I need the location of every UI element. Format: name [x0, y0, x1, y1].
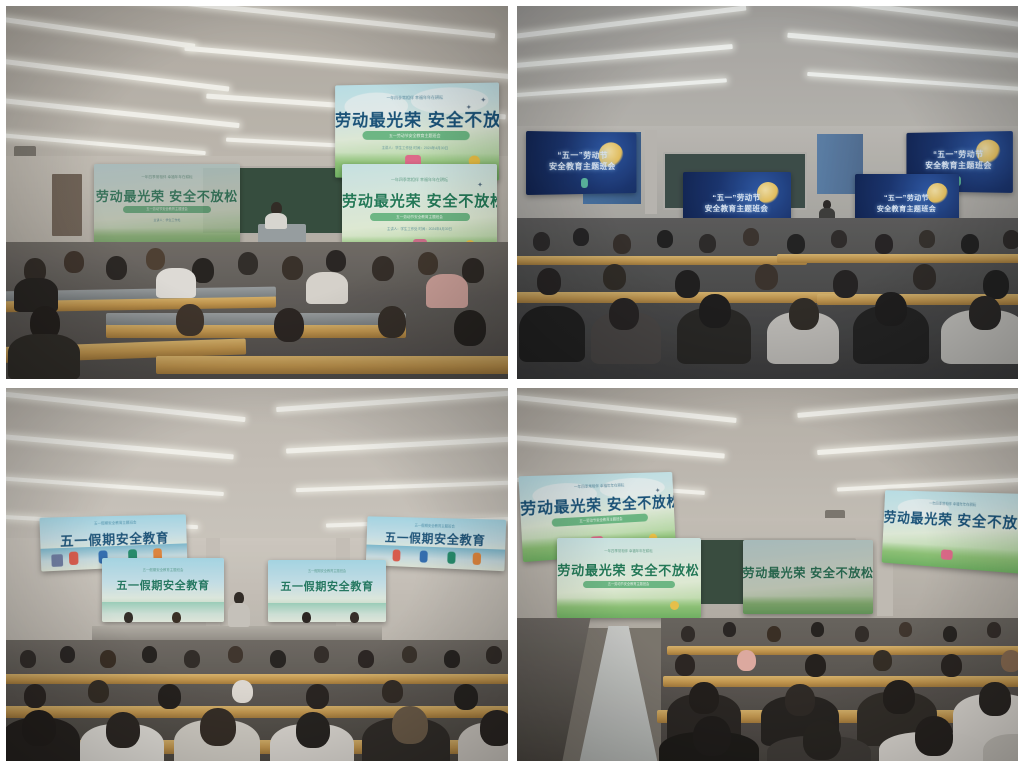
desk-row [663, 676, 1019, 687]
audience-head [573, 228, 589, 246]
audience-head [789, 298, 819, 330]
audience-body [8, 334, 80, 379]
audience-head [983, 270, 1009, 299]
audience-head [282, 256, 303, 280]
audience-head [274, 308, 304, 342]
screen-title-line2: 安全教育主题班会 [855, 204, 959, 214]
audience-head [767, 626, 781, 642]
presenter-body [228, 603, 250, 627]
running-child-illustration [392, 549, 400, 561]
audience-head [699, 234, 716, 253]
audience-head [60, 646, 75, 663]
screen-footer: 主讲人：学生工作处 时间：2024年4月30日 [335, 146, 499, 152]
screen-subtitle-pill: 五一劳动节安全教育主题班会 [123, 206, 211, 213]
audience-head [913, 264, 936, 290]
audience-head [969, 296, 1001, 330]
cyclist-illustration [941, 549, 953, 560]
audience-head [831, 230, 847, 248]
pillar [645, 130, 657, 214]
screen-subtitle-pill: 五一劳动节安全教育主题班会 [370, 213, 470, 221]
running-child-illustration [420, 550, 428, 562]
audience-head [64, 251, 84, 273]
grass-illustration [743, 596, 873, 614]
projection-screen-left: 五一假期安全教育主题班会 五一假期安全教育 [102, 558, 224, 622]
screen-title-line1: “五一”劳动节 [906, 149, 1012, 160]
audience-head [873, 650, 892, 671]
screen-footer: 主讲人：学生工作处 [94, 218, 240, 222]
audience-head [689, 682, 719, 714]
audience-head [979, 682, 1011, 716]
audience-head [987, 622, 1001, 638]
flower-illustration [670, 601, 679, 610]
audience-head [875, 292, 907, 326]
audience-body [426, 274, 468, 308]
running-child-illustration [473, 553, 482, 566]
centre-aisle [577, 626, 661, 761]
audience-head [743, 228, 759, 246]
audience-body [306, 272, 348, 304]
audience-head [899, 622, 912, 637]
audience-head [961, 234, 979, 254]
audience-head [142, 646, 157, 663]
wheelchair-illustration [52, 554, 64, 567]
audience-head [699, 294, 731, 328]
audience-head [1001, 650, 1019, 672]
audience-head [675, 270, 700, 298]
audience-head [392, 706, 428, 744]
screen-title: 五一假期安全教育 [102, 577, 224, 593]
projection-screen-center: 五一假期安全教育主题班会 五一假期安全教育 [268, 560, 386, 622]
screen-footer: 主讲人：学生工作处 时间：2024年4月30日 [342, 226, 497, 231]
audience-head [444, 650, 460, 668]
panel-staff-head [172, 612, 181, 623]
audience-head [454, 310, 486, 346]
audience-head [811, 622, 824, 637]
desk-row [106, 324, 406, 338]
screen-title-line2: 安全教育主题班会 [683, 203, 791, 214]
audience-head [22, 710, 56, 746]
audience-head [372, 256, 394, 281]
ground-illustration [102, 602, 224, 622]
screen-title: 五一假期安全教育 [268, 578, 386, 594]
audience-head [675, 654, 695, 676]
screen-header: 一年四季常相伴 幸福年年在耕耘 [557, 548, 701, 553]
screen-title: 劳动最光荣 安全不放松 [557, 560, 701, 579]
screen-title-line1: “五一”劳动节 [526, 150, 636, 161]
audience-head [737, 650, 756, 671]
audience-head [228, 646, 243, 663]
audience-head [723, 622, 736, 637]
audience-head [875, 234, 893, 254]
audience-head [755, 264, 778, 290]
panel-bottom-left: 五一假期安全教育主题班会 五一假期安全教育 五一假期安全教育主题班会 五一假期安… [6, 388, 508, 761]
audience-head [88, 680, 109, 703]
audience-head [378, 306, 406, 338]
screen-title-line2: 安全教育主题班会 [526, 161, 636, 172]
audience-head [1003, 230, 1019, 249]
audience-head [855, 626, 869, 642]
screen-title: 劳动最光荣 安全不放松 [335, 105, 499, 131]
audience-body [519, 306, 585, 362]
panel-top-left: 一年四季常相伴 幸福年年在耕耘 劳动最光荣 安全不放松 五一劳动节安全教育主题班… [6, 6, 508, 379]
audience-head [681, 626, 695, 642]
audience-head [106, 256, 127, 280]
audience-head [200, 708, 236, 746]
bird-icon: ✦ [477, 182, 483, 189]
ground-illustration [268, 603, 386, 622]
audience-head [454, 684, 478, 710]
audience-head [306, 684, 329, 709]
audience-head [486, 646, 502, 664]
panel-staff-head [124, 612, 133, 623]
audience-head [382, 680, 403, 703]
screen-header: 五一假期安全教育主题班会 [268, 568, 386, 573]
screen-title: 劳动最光荣 安全不放松 [883, 507, 1018, 534]
audience-head [919, 230, 935, 248]
audience-head [176, 304, 204, 336]
audience-head [941, 654, 962, 677]
audience-head [480, 710, 508, 746]
screen-subtitle-pill: 五一劳动节安全教育主题班会 [362, 131, 469, 140]
audience-head [184, 650, 200, 668]
screen-header: 一年四季常相伴 幸福年年在耕耘 [94, 175, 240, 180]
screen-header: 五一假期安全教育主题班会 [102, 567, 224, 572]
audience-head [915, 716, 953, 756]
bird-icon: ✦ [654, 488, 660, 495]
screen-title: 劳动最光荣 安全不放松 [743, 564, 873, 581]
screen-title-line2: 安全教育主题班会 [906, 160, 1012, 171]
audience-head [537, 268, 561, 295]
audience-head [158, 684, 181, 709]
screen-title: 劳动最光荣 安全不放松 [94, 186, 240, 205]
audience-head [657, 230, 673, 248]
presenter-body [265, 213, 287, 229]
desk-row [667, 646, 1019, 655]
audience-head [106, 712, 140, 748]
audience-head [609, 298, 639, 330]
panel-staff-head [350, 612, 359, 623]
audience-head [296, 712, 330, 748]
door [52, 174, 82, 236]
audience-head [326, 250, 346, 272]
panel-top-right: “五一”劳动节 安全教育主题班会 “五一”劳动节 安全教育主题班会 “五一”劳动… [517, 6, 1019, 379]
audience-head [24, 684, 46, 708]
audience-head [418, 252, 438, 275]
desk-row [6, 706, 508, 718]
screen-title: 劳动最光荣 安全不放松 [342, 190, 497, 211]
running-child-illustration [447, 552, 455, 564]
audience-head [693, 716, 731, 756]
audience-head [238, 252, 258, 275]
screen-header: 一年四季常相伴 幸福年年在耕耘 [342, 177, 497, 183]
audience-head [785, 684, 815, 716]
audience-head [100, 650, 116, 668]
bird-icon: ✦ [480, 97, 486, 104]
desk-back [106, 313, 406, 325]
audience-head [402, 646, 417, 663]
led-banner-left: “五一”劳动节 安全教育主题班会 [526, 131, 636, 195]
audience-head [613, 234, 631, 254]
ceiling [6, 388, 508, 538]
projection-screen-right: 劳动最光荣 安全不放松 [743, 540, 873, 614]
audience-head [20, 650, 36, 668]
led-banner-right: 一年四季常相伴 幸福年年在耕耘 劳动最光荣 安全不放松 [882, 490, 1018, 574]
lantern-illustration [580, 178, 587, 188]
audience-head [603, 264, 626, 290]
grass-illustration [557, 598, 701, 618]
bird-icon: ✦ [466, 104, 472, 111]
screen-title-line1: “五一”劳动节 [855, 193, 959, 203]
audience-head [358, 650, 374, 668]
audience-head [314, 646, 329, 663]
audience-head [146, 248, 165, 270]
led-banner-right: 五一假期安全教育主题班会 五一假期安全教育 [366, 516, 506, 571]
desk-row [156, 356, 508, 374]
audience-head [943, 626, 957, 642]
desk-row [6, 674, 508, 684]
audience-head [833, 270, 858, 298]
projection-screen-left: 一年四季常相伴 幸福年年在耕耘 劳动最光荣 安全不放松 五一劳动节安全教育主题班… [94, 164, 240, 246]
running-child-illustration [68, 552, 78, 566]
screen-subtitle-pill: 五一劳动节安全教育主题班会 [583, 581, 675, 588]
projection-screen-left: 一年四季常相伴 幸福年年在耕耘 劳动最光荣 安全不放松 五一劳动节安全教育主题班… [557, 538, 701, 618]
audience-head [232, 680, 253, 703]
audience-head [805, 654, 826, 677]
panel-staff-head [302, 612, 311, 623]
audience-head [883, 680, 915, 714]
panel-bottom-right: 一年四季常相伴 幸福年年在耕耘 劳动最光荣 安全不放松 五一劳动节安全教育主题班… [517, 388, 1019, 761]
photo-collage: 一年四季常相伴 幸福年年在耕耘 劳动最光荣 安全不放松 五一劳动节安全教育主题班… [0, 0, 1024, 767]
audience-head [270, 650, 286, 668]
desk-row [777, 254, 1019, 263]
audience-head [533, 232, 550, 251]
audience-body [156, 268, 196, 298]
audience-head [803, 720, 841, 760]
seating-area-left [517, 618, 591, 761]
screen-title-line1: “五一”劳动节 [683, 192, 791, 203]
audience-head [787, 234, 805, 254]
